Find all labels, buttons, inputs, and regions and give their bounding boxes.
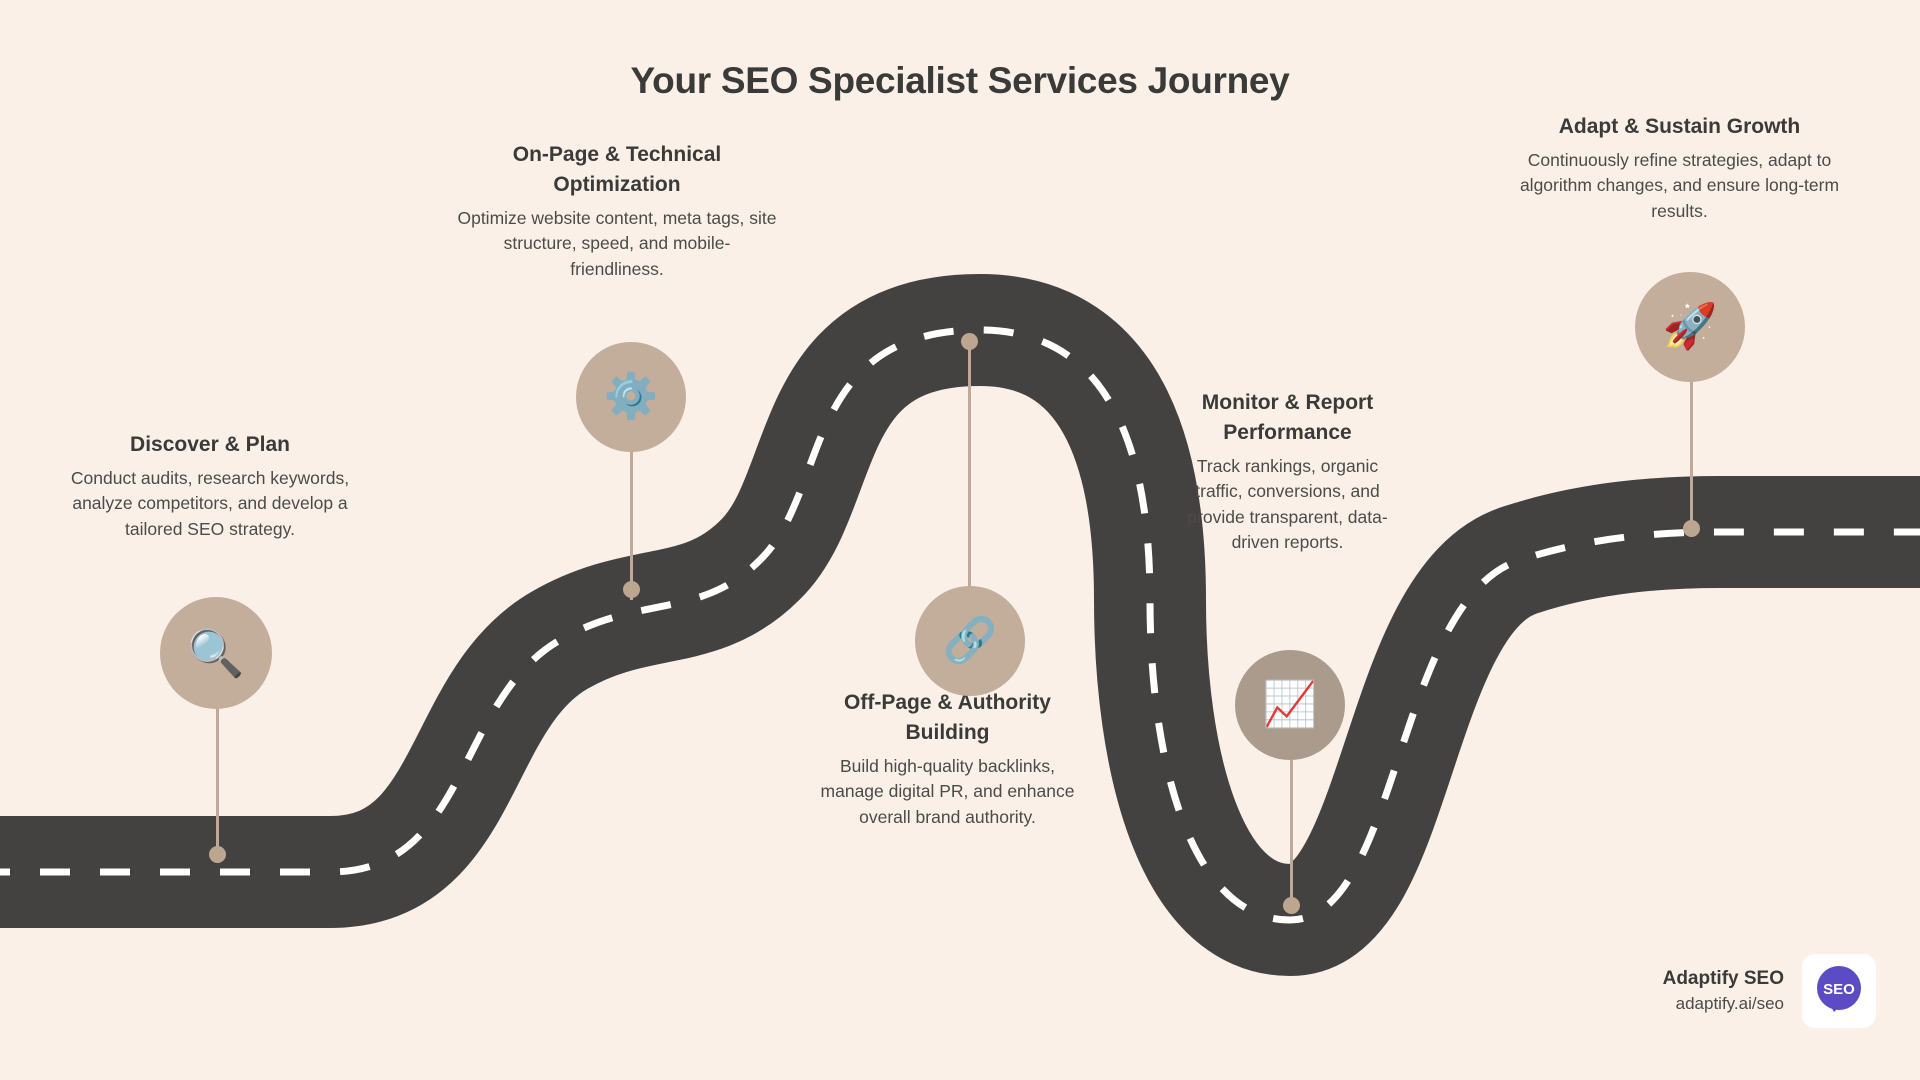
step-title: Monitor & Report Performance: [1185, 388, 1390, 448]
page-title: Your SEO Specialist Services Journey: [0, 60, 1920, 102]
marker-icon-chart-increasing[interactable]: 📈: [1235, 650, 1345, 760]
seo-logo-text: SEO: [1823, 981, 1855, 998]
step-text-discover-plan: Discover & Plan Conduct audits, research…: [60, 430, 360, 542]
marker-stem: [1690, 380, 1693, 535]
brand-footer: Adaptify SEO adaptify.ai/seo SEO: [1663, 954, 1876, 1028]
marker-dot: [1683, 520, 1700, 537]
step-title: Adapt & Sustain Growth: [1512, 112, 1847, 142]
marker-dot: [961, 333, 978, 350]
rocket-icon: 🚀: [1663, 305, 1718, 349]
step-text-monitor-report-performance: Monitor & Report Performance Track ranki…: [1185, 388, 1390, 556]
brand-logo[interactable]: SEO: [1802, 954, 1876, 1028]
step-title: On-Page & Technical Optimization: [457, 140, 777, 200]
marker-icon-link-chain[interactable]: 🔗: [915, 586, 1025, 696]
marker-icon-rocket[interactable]: 🚀: [1635, 272, 1745, 382]
marker-dot: [209, 846, 226, 863]
link-chain-icon: 🔗: [943, 619, 998, 663]
brand-text: Adaptify SEO adaptify.ai/seo: [1663, 966, 1784, 1016]
step-title: Off-Page & Authority Building: [815, 688, 1080, 748]
marker-icon-gear[interactable]: ⚙️: [576, 342, 686, 452]
step-description: Continuously refine strategies, adapt to…: [1512, 148, 1847, 225]
magnifying-glass-icon: 🔍: [187, 630, 244, 676]
step-text-off-page-authority-building: Off-Page & Authority Building Build high…: [815, 688, 1080, 830]
step-description: Track rankings, organic traffic, convers…: [1185, 454, 1390, 556]
seo-speech-bubble-icon: SEO: [1808, 960, 1870, 1022]
chart-increasing-icon: 📈: [1263, 683, 1318, 727]
step-description: Conduct audits, research keywords, analy…: [60, 466, 360, 543]
step-title: Discover & Plan: [60, 430, 360, 460]
step-text-on-page-technical-optimization: On-Page & Technical Optimization Optimiz…: [457, 140, 777, 282]
marker-dot: [623, 581, 640, 598]
marker-stem: [1290, 760, 1293, 910]
brand-name: Adaptify SEO: [1663, 966, 1784, 992]
infographic-canvas: Your SEO Specialist Services Journey Dis…: [0, 0, 1920, 1080]
step-description: Build high-quality backlinks, manage dig…: [815, 754, 1080, 831]
step-description: Optimize website content, meta tags, sit…: [457, 206, 777, 283]
step-text-adapt-sustain-growth: Adapt & Sustain Growth Continuously refi…: [1512, 112, 1847, 224]
marker-stem: [968, 343, 971, 598]
gear-icon: ⚙️: [604, 375, 659, 419]
brand-url[interactable]: adaptify.ai/seo: [1663, 992, 1784, 1017]
marker-dot: [1283, 897, 1300, 914]
marker-icon-magnifying-glass[interactable]: 🔍: [160, 597, 272, 709]
